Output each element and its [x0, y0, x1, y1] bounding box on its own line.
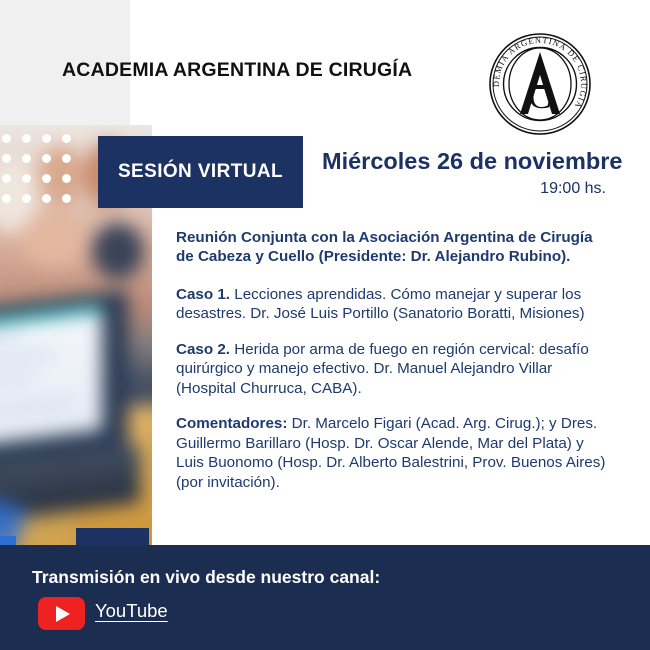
case-2-label: Caso 2. [176, 341, 230, 358]
session-date: Miércoles 26 de noviembre [322, 148, 622, 175]
case-1-paragraph: Caso 1. Lecciones aprendidas. Cómo manej… [176, 285, 606, 324]
case-2-paragraph: Caso 2. Herida por arma de fuego en regi… [176, 340, 606, 398]
session-type-badge: SESIÓN VIRTUAL [98, 136, 303, 208]
youtube-play-icon[interactable] [38, 597, 85, 630]
case-1-label: Caso 1. [176, 286, 230, 303]
flyer-canvas: ACADEMIA ARGENTINA DE CIRUGÍA ACADEMIA A… [0, 0, 650, 650]
page-title: ACADEMIA ARGENTINA DE CIRUGÍA [62, 59, 412, 82]
case-2-text: Herida por arma de fuego en región cervi… [176, 341, 589, 397]
program-lead-paragraph: Reunión Conjunta con la Asociación Argen… [176, 228, 606, 267]
youtube-channel-link[interactable]: YouTube [95, 600, 168, 622]
session-time: 19:00 hs. [322, 180, 606, 198]
commentators-paragraph: Comentadores: Dr. Marcelo Figari (Acad. … [176, 414, 606, 492]
commentators-label: Comentadores: [176, 415, 287, 432]
footer-bar: Transmisión en vivo desde nuestro canal: [0, 545, 650, 650]
academia-seal-logo: ACADEMIA ARGENTINA DE CIRUGIA C [484, 28, 596, 140]
session-type-label: SESIÓN VIRTUAL [118, 161, 283, 183]
session-program: Reunión Conjunta con la Asociación Argen… [176, 228, 606, 508]
case-1-text: Lecciones aprendidas. Cómo manejar y sup… [176, 286, 585, 322]
dot-grid-overlay [0, 132, 72, 204]
svg-text:C: C [529, 79, 552, 116]
broadcast-title: Transmisión en vivo desde nuestro canal: [32, 567, 380, 588]
